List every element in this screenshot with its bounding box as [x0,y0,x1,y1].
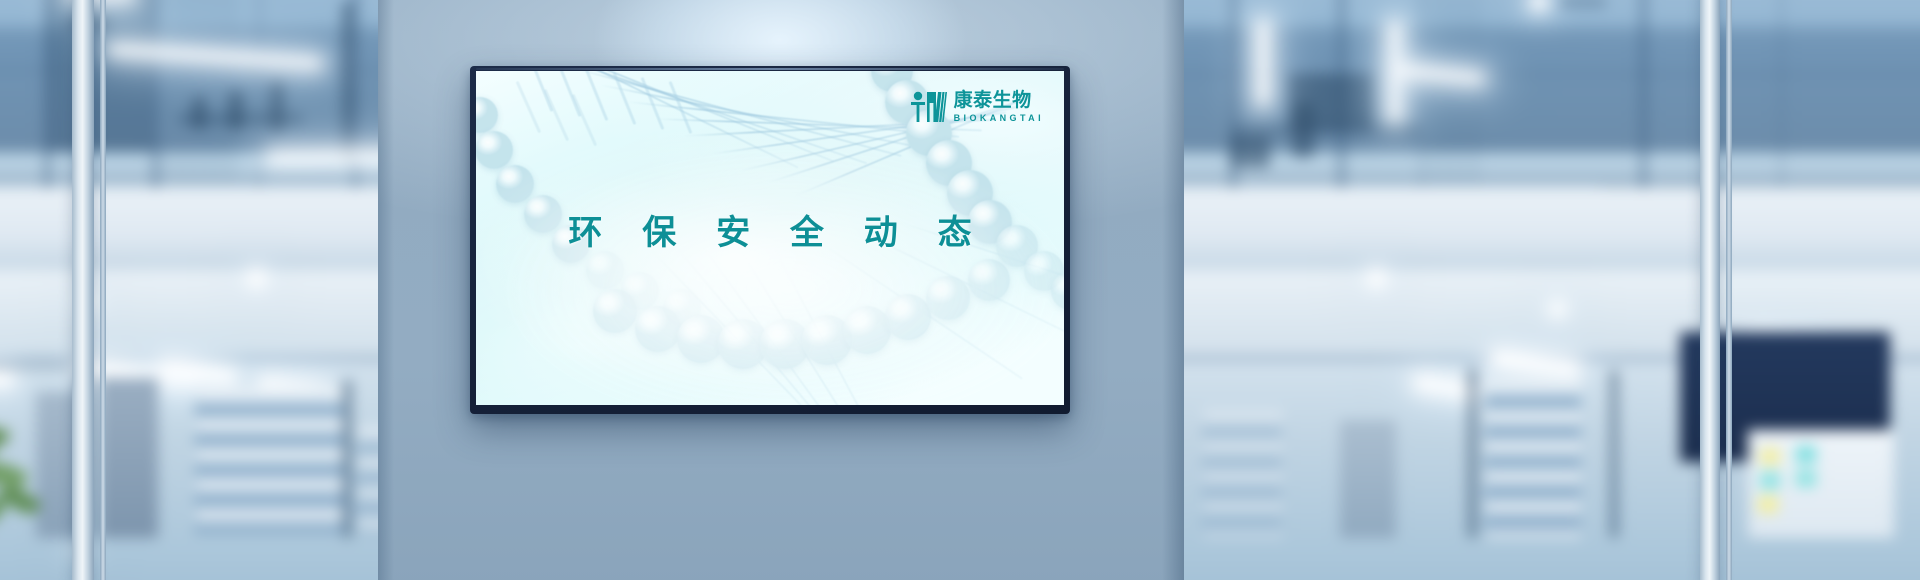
sticky-note [1760,472,1780,489]
wall-mounted-display[interactable]: 环 保 安 全 动 态 [470,66,1070,414]
window-frame-mullion [1726,0,1732,580]
sticky-note [1796,470,1816,487]
window-frame-mullion [100,0,106,580]
office-background-right [1160,0,1920,580]
window-frame-post [72,0,94,580]
presentation-slide: 环 保 安 全 动 态 [476,71,1064,405]
sticky-note [1758,496,1778,513]
slide-title: 环 保 安 全 动 态 [476,205,1064,254]
display-screen[interactable]: 环 保 安 全 动 态 [476,71,1064,405]
logo-english-name: BIOKANGTAI [954,114,1044,123]
biokangtai-figure-icon [910,90,948,124]
potted-plant [0,418,68,528]
logo-chinese-name: 康泰生物 [954,91,1032,110]
sticky-note [1796,446,1816,463]
company-logo: 康泰生物 BIOKANGTAI [910,90,1044,124]
sticky-note [1760,448,1780,465]
window-frame-post [1700,0,1720,580]
screenshot-root: 环 保 安 全 动 态 [0,0,1920,580]
